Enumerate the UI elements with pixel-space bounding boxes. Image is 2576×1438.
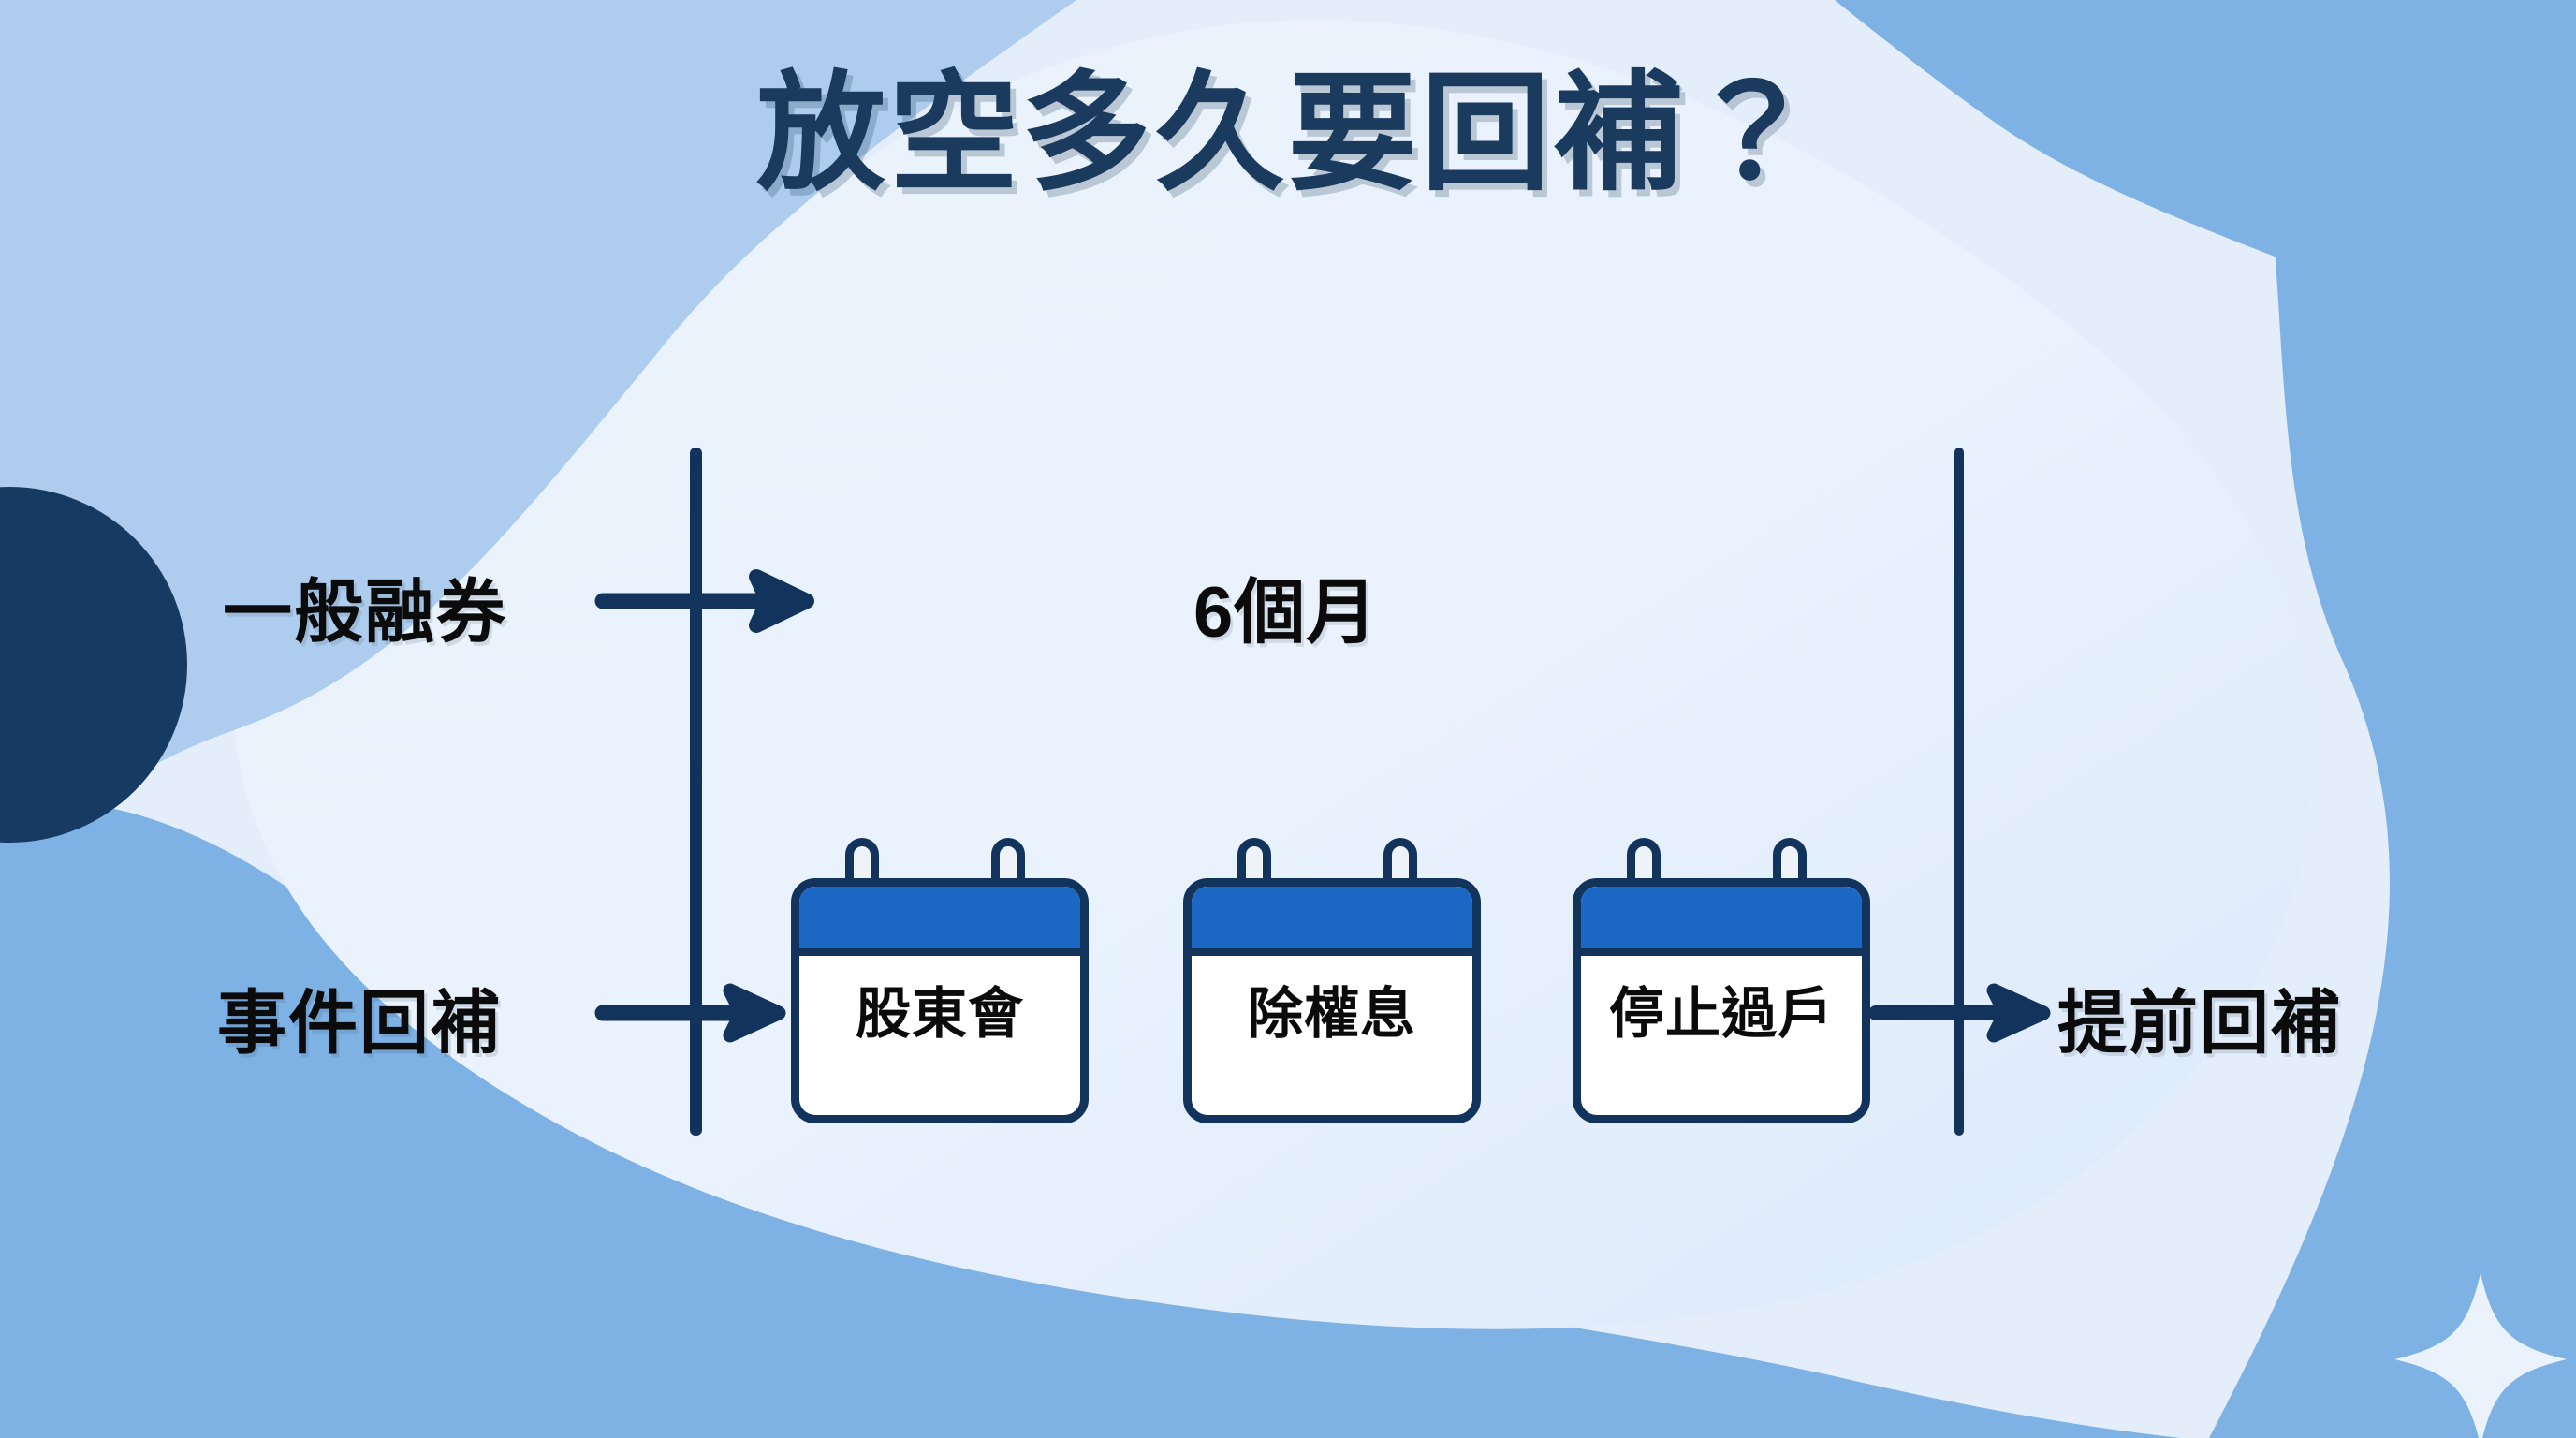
calendar-icon: 除權息 xyxy=(1183,878,1481,1123)
event-card-label: 除權息 xyxy=(1192,984,1472,1045)
calendar-header-bar xyxy=(1581,887,1862,956)
outcome-label-early-cover: 提前回補 xyxy=(2057,967,2342,1067)
arrow-right-icon-middle xyxy=(599,985,786,1041)
event-card-shareholders-meeting[interactable]: 股東會 xyxy=(791,878,1089,1123)
page-title: 放空多久要回補？ xyxy=(0,58,2576,211)
event-card-transfer-suspension[interactable]: 停止過戶 xyxy=(1573,878,1870,1123)
duration-label: 6個月 xyxy=(1193,554,1378,657)
background-decoration xyxy=(0,0,2576,1438)
arrow-right-icon-outcome xyxy=(1872,985,2050,1041)
event-card-label: 停止過戶 xyxy=(1581,984,1862,1045)
arrow-right-icon-top xyxy=(599,573,814,629)
infographic-slide: 放空多久要回補？ 一般融券 6個月 事件回補 股東會 除權息 xyxy=(0,0,2576,1438)
row-label-event-cover: 事件回補 xyxy=(217,967,502,1067)
row-label-margin-short: 一般融券 xyxy=(223,556,507,656)
calendar-icon: 停止過戶 xyxy=(1573,878,1870,1123)
event-card-ex-dividend[interactable]: 除權息 xyxy=(1183,878,1481,1123)
event-card-label: 股東會 xyxy=(799,984,1080,1045)
calendar-header-bar xyxy=(799,887,1080,956)
calendar-icon: 股東會 xyxy=(791,878,1089,1123)
calendar-header-bar xyxy=(1192,887,1472,956)
